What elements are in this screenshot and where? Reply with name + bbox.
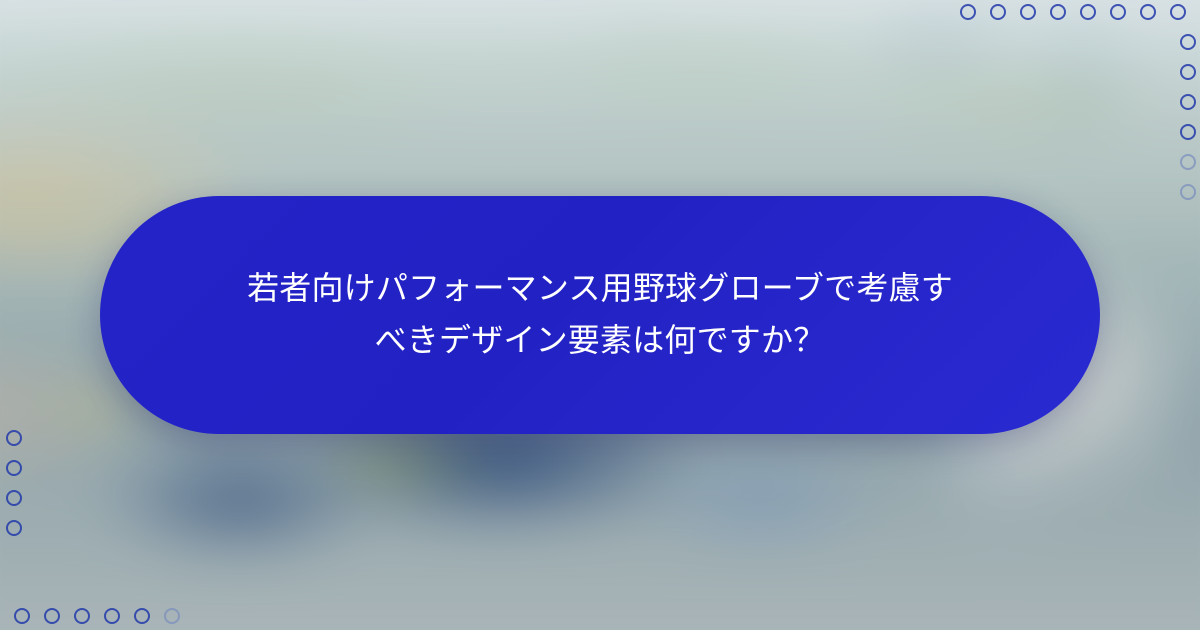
page-title: 若者向けパフォーマンス用野球グローブで考慮す べきデザイン要素は何ですか？ xyxy=(247,263,953,367)
circle-icon xyxy=(1180,184,1196,200)
decorative-dot-column-left xyxy=(6,430,22,536)
circle-icon xyxy=(1050,4,1066,20)
circle-icon xyxy=(960,4,976,20)
circle-icon xyxy=(164,608,180,624)
circle-icon xyxy=(1080,4,1096,20)
circle-icon xyxy=(1180,94,1196,110)
circle-icon xyxy=(104,608,120,624)
circle-icon xyxy=(1140,4,1156,20)
circle-icon xyxy=(1180,34,1196,50)
circle-icon xyxy=(134,608,150,624)
decorative-dot-column-right xyxy=(1180,34,1196,200)
circle-icon xyxy=(1110,4,1126,20)
circle-icon xyxy=(14,608,30,624)
circle-icon xyxy=(6,490,22,506)
circle-icon xyxy=(74,608,90,624)
circle-icon xyxy=(1170,4,1186,20)
circle-icon xyxy=(1180,64,1196,80)
decorative-dot-row-bottom-left xyxy=(14,608,180,624)
circle-icon xyxy=(44,608,60,624)
circle-icon xyxy=(990,4,1006,20)
circle-icon xyxy=(1020,4,1036,20)
circle-icon xyxy=(6,460,22,476)
circle-icon xyxy=(1180,154,1196,170)
circle-icon xyxy=(6,430,22,446)
circle-icon xyxy=(1180,124,1196,140)
poster-canvas: 若者向けパフォーマンス用野球グローブで考慮す べきデザイン要素は何ですか？ xyxy=(0,0,1200,630)
headline-card: 若者向けパフォーマンス用野球グローブで考慮す べきデザイン要素は何ですか？ xyxy=(100,196,1100,434)
circle-icon xyxy=(6,520,22,536)
decorative-dot-row-top-right xyxy=(960,4,1186,20)
